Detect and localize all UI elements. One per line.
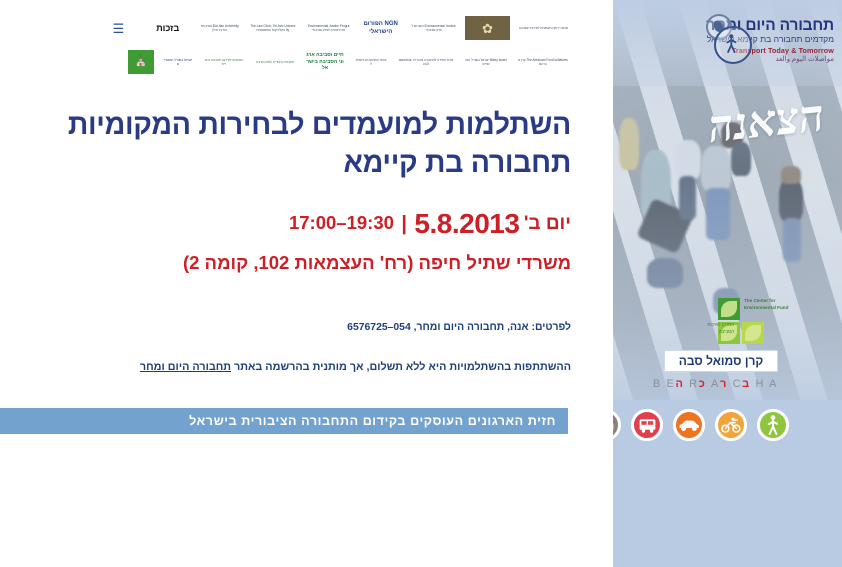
fund-hebrew-text: המרכז לאיכות הסביבה bbox=[700, 322, 734, 336]
partner-logo-text: העמותה לקידום תחבורה ציבורית bbox=[202, 58, 246, 67]
leaf-icon bbox=[745, 325, 761, 341]
partner-logo: Bar-Ilan University אוניברסיטת בר אילן bbox=[199, 16, 241, 40]
walk-glyph-icon bbox=[766, 415, 780, 435]
event-datetime: יום ב' 5.8.2013 | 19:30–17:00 bbox=[31, 208, 571, 240]
brand-logo: תחבורה היום ומחר מקדמים תחבורה בת קיימא … bbox=[620, 18, 834, 70]
partner-logos-strip: מנפה ירוקה העמותה לאיכות הסביבה ✿ Enviro… bbox=[100, 14, 570, 76]
partner-logo: תחבורה ציבורית למען הציבור bbox=[253, 50, 297, 74]
registration-link[interactable]: תחבורה היום ומחר bbox=[140, 361, 231, 373]
partner-logo-text: תחבורה ציבורית למען הציבור bbox=[254, 60, 297, 64]
partner-logo: Environmental Justice הפורום לצדק סביבתי bbox=[409, 16, 459, 40]
partner-logo: מרכז המידע לתחבורה ציבורית www.bus.co.il bbox=[396, 50, 456, 74]
partner-logos-row-1: מנפה ירוקה העמותה לאיכות הסביבה ✿ Enviro… bbox=[100, 14, 570, 42]
fund-logo-tiles: The Center for Environmental Fund המרכז … bbox=[704, 298, 778, 346]
partner-logo-text: The Abraham Fund Initiatives קרן אברהם bbox=[516, 58, 570, 67]
partner-logo-text: חיים וסביבה ארגוני הסביבה בישראל bbox=[304, 52, 346, 72]
mode-pedestrian-icon[interactable] bbox=[757, 409, 789, 441]
partner-logo-text: Bikey Israel ישראל בשביל האופניים bbox=[463, 58, 509, 67]
partner-logo-text: מנפה ירוקה העמותה לאיכות הסביבה bbox=[517, 26, 570, 30]
partner-logo: מנפה ירוקה העמותה לאיכות הסביבה bbox=[517, 16, 570, 40]
title-line-2: תחבורה בת קיימא bbox=[343, 147, 571, 179]
plant-icon: ✿ bbox=[482, 22, 493, 35]
registration-note-text: ההשתתפות בהשתלמויות היא ללא תשלום, אך מו… bbox=[231, 361, 571, 373]
partner-logo: ✿ bbox=[465, 16, 509, 40]
partner-logo: ישראל בשביל האופניים bbox=[161, 50, 195, 74]
partner-logo-text: בזכות bbox=[154, 22, 181, 34]
beracha-he-letter: ר bbox=[720, 378, 728, 390]
flag-icon: ☰ bbox=[113, 22, 125, 35]
leaf-tile-icon bbox=[742, 322, 764, 344]
partner-logo-text: Environmental Justice Program התוכנית לצ… bbox=[305, 24, 353, 33]
registration-note: ההשתתפות בהשתלמויות היא ללא תשלום, אך מו… bbox=[31, 361, 571, 373]
partner-logo: Bikey Israel ישראל בשביל האופניים bbox=[463, 50, 509, 74]
partner-logo-text: Bar-Ilan University אוניברסיטת בר אילן bbox=[199, 24, 241, 33]
poster-page: מנפה ירוקה העמותה לאיכות הסביבה ✿ Enviro… bbox=[0, 0, 842, 567]
brand-mark-icon bbox=[706, 14, 750, 64]
partner-logos-row-2: The Abraham Fund Initiatives קרן אברהם B… bbox=[100, 48, 570, 76]
transport-mode-icons bbox=[613, 409, 789, 441]
pedestrian-icon bbox=[725, 34, 738, 53]
mode-car-icon[interactable] bbox=[673, 409, 705, 441]
partner-logo-text: מרכז המידע לתחבורה ציבורית www.bus.co.il bbox=[396, 58, 456, 67]
beracha-he-letter: כ bbox=[699, 378, 707, 390]
fund-logo: The Center for Environmental Fund המרכז … bbox=[668, 298, 778, 372]
event-day-label: יום ב' bbox=[524, 213, 571, 234]
partner-logo: ☰ bbox=[100, 16, 137, 40]
contact-info: לפרטים: אנה, תחבורה היום ומחר, 054–65767… bbox=[31, 322, 571, 333]
beracha-en-letter: A bbox=[769, 378, 778, 390]
beracha-en-letter: C bbox=[733, 378, 743, 390]
leaf-tile-icon bbox=[718, 298, 740, 320]
fund-name: קרן סמואל סבה bbox=[664, 350, 778, 372]
datetime-separator: | bbox=[398, 213, 410, 235]
beracha-he-letter: ב bbox=[742, 378, 751, 390]
partner-logo: איגוד המתכננים בישראל bbox=[353, 50, 389, 74]
train-glyph-icon bbox=[613, 418, 615, 433]
bicycle-glyph-icon bbox=[721, 417, 741, 433]
sidebar: תחבורה היום ומחר מקדמים תחבורה בת קיימא … bbox=[613, 0, 842, 567]
mode-bus-icon[interactable] bbox=[631, 409, 663, 441]
bicycle-icon: ⛪ bbox=[135, 57, 147, 67]
partner-logo: ⛪ bbox=[128, 50, 154, 74]
fund-english-text: The Center for Environmental Fund bbox=[744, 298, 800, 311]
title-line-1: השתלמות למועמדים לבחירות המקומיות bbox=[68, 109, 571, 141]
beracha-en-letter: H bbox=[755, 378, 765, 390]
partner-logo-text: The Law Clinic, Tel Aviv University הקלי… bbox=[248, 24, 298, 33]
beracha-wordmark: B Eה Rכ Aר Cב H A bbox=[653, 378, 778, 390]
beracha-en-letter: B bbox=[653, 378, 662, 390]
partner-logo: Environmental Justice Program התוכנית לצ… bbox=[305, 16, 353, 40]
leaf-icon bbox=[721, 301, 737, 317]
mode-cyclist-icon[interactable] bbox=[715, 409, 747, 441]
partner-logo-text: Environmental Justice הפורום לצדק סביבתי bbox=[409, 24, 459, 33]
beracha-he-letter: ה bbox=[675, 378, 684, 390]
main-panel: מנפה ירוקה העמותה לאיכות הסביבה ✿ Enviro… bbox=[0, 0, 613, 567]
partner-logo-text: NGN הפורום הישראלי bbox=[359, 20, 401, 36]
partner-logo: The Abraham Fund Initiatives קרן אברהם bbox=[516, 50, 570, 74]
partner-logo: חיים וסביבה ארגוני הסביבה בישראל bbox=[304, 50, 346, 74]
partner-logo: NGN הפורום הישראלי bbox=[359, 16, 401, 40]
tagline-banner: חזית הארגונים העוסקים בקידום התחבורה הצי… bbox=[0, 408, 568, 434]
beracha-en-letter: R bbox=[689, 378, 699, 390]
bus-glyph-icon bbox=[638, 418, 657, 433]
mode-train-icon[interactable] bbox=[613, 409, 621, 441]
partner-logo: בזכות bbox=[144, 16, 192, 40]
car-glyph-icon bbox=[678, 419, 700, 432]
partner-logo-text: ישראל בשביל האופניים bbox=[161, 58, 195, 67]
beracha-en-letter: A bbox=[711, 378, 720, 390]
partner-logo: The Law Clinic, Tel Aviv University הקלי… bbox=[248, 16, 298, 40]
tagline-text: חזית הארגונים העוסקים בקידום התחבורה הצי… bbox=[189, 408, 556, 434]
partner-logo: העמותה לקידום תחבורה ציבורית bbox=[202, 50, 246, 74]
event-venue: משרדי שתיל חיפה (רח' העצמאות 102, קומה 2… bbox=[31, 252, 571, 274]
event-hours: 19:30–17:00 bbox=[289, 212, 394, 233]
event-date: 5.8.2013 bbox=[414, 208, 519, 239]
partner-logo-text: איגוד המתכננים בישראל bbox=[353, 58, 389, 67]
page-title: השתלמות למועמדים לבחירות המקומיות תחבורה… bbox=[31, 106, 571, 182]
